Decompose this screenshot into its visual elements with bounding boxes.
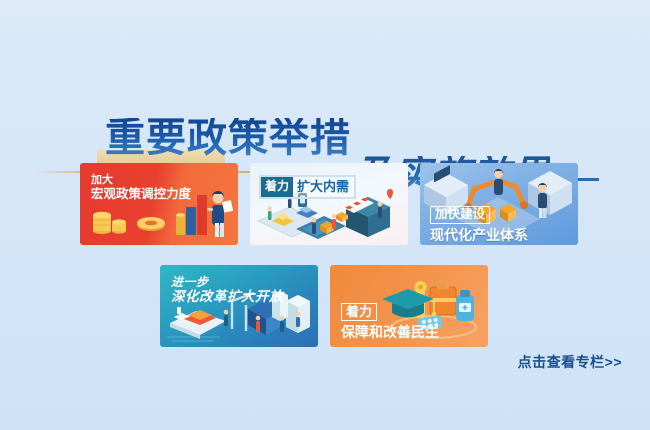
card-modern-industry[interactable]: 加快建设 现代化产业体系 [420,163,578,245]
card-macro-policy[interactable]: 加大 宏观政策调控力度 [80,163,238,245]
page-title-line-1: 重要政策举措 [105,118,351,158]
card-expand-demand[interactable]: 着力 扩大内需 [250,163,408,245]
card-livelihood-text: 着力 保障和改善民生 [341,303,439,341]
card-industry-line-1-wrap: 加快建设 [430,205,528,227]
card-reform-line-2: 深化改革扩大开放 [171,289,283,305]
card-improve-livelihood[interactable]: 着力 保障和改善民生 [330,265,488,347]
card-livelihood-line-1-wrap: 着力 [341,303,439,324]
banner-title-block: 重要政策举措 及实施效果 [0,58,650,148]
card-industry-text: 加快建设 现代化产业体系 [430,205,528,243]
card-reform-line-1: 进一步 [171,275,283,289]
card-demand-line-1: 着力 [261,177,293,197]
view-column-link[interactable]: 点击查看专栏>> [518,352,622,372]
card-macro-line-1: 加大 [91,174,191,187]
card-livelihood-line-2: 保障和改善民生 [341,324,439,341]
card-industry-line-1: 加快建设 [430,206,490,224]
card-industry-line-2: 现代化产业体系 [430,227,528,244]
card-macro-text: 加大 宏观政策调控力度 [91,174,191,202]
card-deepen-reform[interactable]: 进一步 深化改革扩大开放 [160,265,318,347]
card-reform-text: 进一步 深化改革扩大开放 [171,275,283,305]
card-demand-text: 着力 扩大内需 [259,175,356,199]
card-demand-line-2: 扩大内需 [293,177,354,197]
policy-banner: 重要政策举措 及实施效果 [0,0,650,430]
card-macro-line-2: 宏观政策调控力度 [91,187,191,202]
card-livelihood-line-1: 着力 [341,303,377,321]
